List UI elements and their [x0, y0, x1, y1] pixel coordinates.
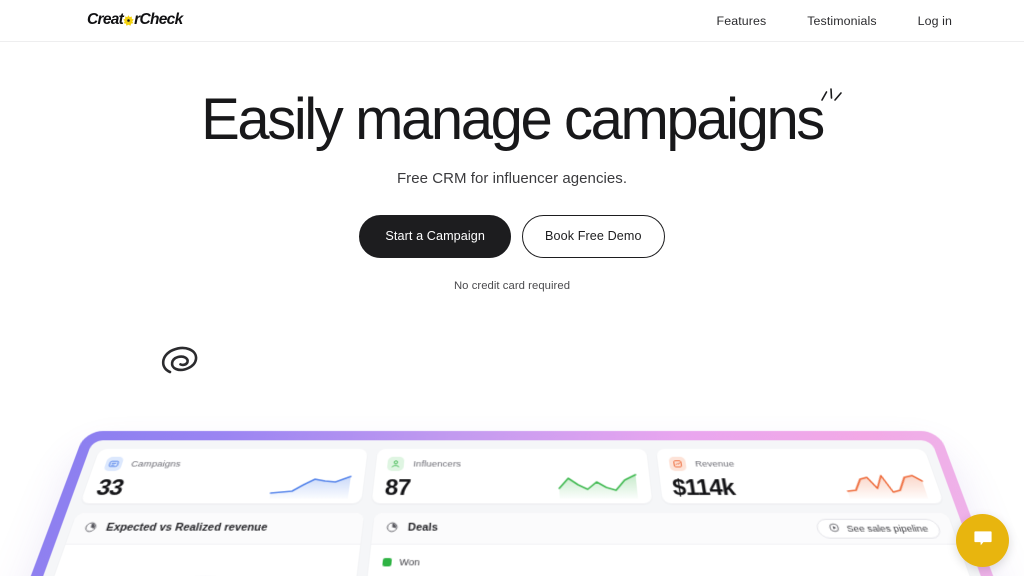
- stat-card-body: $114k: [670, 471, 930, 499]
- stat-card-body: 87: [384, 471, 640, 499]
- stat-card-campaigns[interactable]: Campaigns 33: [80, 449, 368, 503]
- stat-value-influencers: 87: [384, 477, 411, 498]
- chat-bubble-icon: [971, 526, 995, 555]
- campaigns-sparkline: [267, 471, 353, 499]
- landing-page: Creat rCheck Features Testimonials Log i…: [0, 0, 1024, 576]
- stat-value-campaigns: 33: [94, 477, 126, 498]
- stat-card-header: Revenue: [668, 457, 920, 471]
- panel-deals: Deals See sales pipeline: [356, 513, 1006, 576]
- nav-item-features[interactable]: Features: [703, 14, 781, 28]
- deals-legend-item-won: Won: [382, 557, 953, 567]
- no-credit-card-note: No credit card required: [0, 280, 1024, 292]
- chat-widget-button[interactable]: [956, 514, 1009, 567]
- headline-wrapper: Easily manage campaigns: [201, 89, 823, 152]
- stat-card-row: Campaigns 33: [80, 449, 943, 503]
- start-campaign-button[interactable]: Start a Campaign: [359, 215, 511, 258]
- star-badge-icon: [123, 15, 134, 26]
- stat-card-header: Influencers: [387, 457, 637, 471]
- deals-circle-icon: [385, 519, 399, 537]
- dashboard-frame: Campaigns 33: [0, 431, 1024, 576]
- page-title: Easily manage campaigns: [201, 89, 823, 152]
- stat-card-header: Campaigns: [103, 457, 355, 471]
- see-sales-pipeline-label: See sales pipeline: [845, 523, 929, 533]
- panel-body: Won: [356, 545, 1006, 576]
- panel-title-expected-vs-realized: Expected vs Realized revenue: [104, 523, 268, 534]
- brand-logo[interactable]: Creat rCheck: [87, 11, 183, 29]
- panel-expected-vs-realized: Expected vs Realized revenue: [18, 513, 364, 576]
- book-demo-button[interactable]: Book Free Demo: [522, 215, 665, 258]
- revenue-sparkline: [840, 471, 930, 499]
- hero-section: Easily manage campaigns Free CRM for inf…: [0, 42, 1024, 292]
- campaigns-icon: [103, 457, 124, 471]
- stat-card-body: 33: [94, 471, 354, 499]
- panel-row: Expected vs Realized revenue: [18, 513, 1007, 576]
- panel-title-deals: Deals: [407, 523, 438, 534]
- stat-value-revenue: $114k: [671, 477, 736, 498]
- hero-subheadline: Free CRM for influencer agencies.: [0, 170, 1024, 187]
- influencers-sparkline: [557, 471, 641, 499]
- chart-circle-icon: [81, 519, 99, 537]
- brand-name-part1: Creat: [87, 11, 123, 29]
- main-nav: Features Testimonials Log in: [703, 0, 966, 42]
- stat-label-revenue: Revenue: [694, 459, 735, 468]
- influencers-icon: [387, 457, 405, 471]
- see-sales-pipeline-button[interactable]: See sales pipeline: [815, 518, 943, 538]
- nav-item-login[interactable]: Log in: [904, 14, 966, 28]
- panel-header: Deals See sales pipeline: [371, 513, 958, 545]
- revenue-icon: [668, 457, 686, 471]
- stat-card-influencers[interactable]: Influencers 87: [372, 449, 653, 503]
- legend-swatch-won: [382, 558, 392, 566]
- legend-label-won: Won: [399, 557, 420, 567]
- hero-cta-row: Start a Campaign Book Free Demo: [0, 215, 1024, 258]
- site-header: Creat rCheck Features Testimonials Log i…: [0, 0, 1024, 42]
- nav-item-testimonials[interactable]: Testimonials: [793, 14, 890, 28]
- spiral-swirl-icon: [158, 341, 200, 379]
- dashboard-mockup-stage: Campaigns 33: [0, 415, 1024, 576]
- stat-card-revenue[interactable]: Revenue $114k: [656, 449, 944, 503]
- stat-label-influencers: Influencers: [413, 459, 461, 468]
- panel-header: Expected vs Realized revenue: [66, 513, 364, 545]
- dashboard-screen: Campaigns 33: [0, 440, 1024, 576]
- play-circle-icon: [828, 522, 842, 534]
- brand-name-part2: rCheck: [134, 11, 182, 29]
- panel-body: [18, 545, 361, 576]
- stat-label-campaigns: Campaigns: [130, 459, 182, 468]
